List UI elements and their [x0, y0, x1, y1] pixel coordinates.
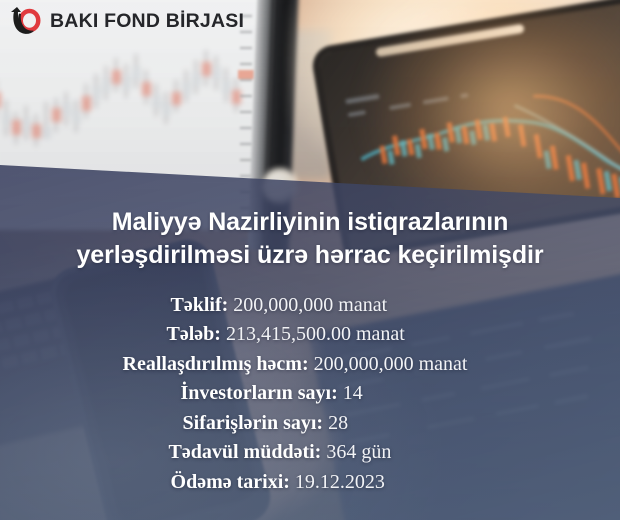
detail-row: Təklif: 200,000,000 manat [171, 295, 468, 315]
brand-name: BAKI FOND BİRJASI [50, 12, 244, 32]
detail-value: 213,415,500.00 manat [226, 323, 405, 345]
detail-label: Tələb: [167, 323, 221, 345]
detail-value: 28 [328, 412, 348, 434]
auction-details-list: Təklif: 200,000,000 manat Tələb: 213,415… [153, 295, 468, 502]
announcement-content: Maliyyə Nazirliyinin istiqrazlarının yer… [0, 206, 620, 501]
detail-label: Tədavül müddəti: [169, 441, 322, 463]
page-title: Maliyyə Nazirliyinin istiqrazlarının yer… [16, 206, 604, 273]
detail-value: 364 gün [326, 441, 391, 463]
detail-label: Reallaşdırılmış həcm: [123, 353, 309, 375]
detail-row: Reallaşdırılmış həcm: 200,000,000 manat [123, 354, 468, 374]
detail-value: 14 [343, 382, 363, 404]
headline-line-1: Maliyyə Nazirliyinin istiqrazlarının [112, 208, 509, 236]
detail-label: Təklif: [171, 294, 229, 316]
detail-row: Sifarişlərin sayı: 28 [183, 413, 468, 433]
announcement-banner: BAKI FOND BİRJASI Maliyyə Nazirliyinin i… [0, 0, 620, 520]
detail-label: Ödəmə tarixi: [171, 471, 290, 493]
detail-label: Sifarişlərin sayı: [183, 412, 324, 434]
headline-line-2: yerləşdirilməsi üzrə hərrac keçirilmişdi… [77, 241, 544, 269]
detail-value: 200,000,000 manat [314, 353, 468, 375]
detail-row: İnvestorların sayı: 14 [181, 383, 468, 403]
detail-row: Ödəmə tarixi: 19.12.2023 [171, 472, 468, 492]
detail-label: İnvestorların sayı: [181, 382, 338, 404]
detail-value: 200,000,000 manat [233, 294, 387, 316]
detail-row: Tədavül müddəti: 364 gün [169, 442, 468, 462]
brand-logo[interactable]: BAKI FOND BİRJASI [8, 6, 244, 38]
detail-row: Tələb: 213,415,500.00 manat [167, 324, 468, 344]
detail-value: 19.12.2023 [295, 471, 385, 493]
bfb-swoosh-ring-icon [8, 6, 42, 38]
